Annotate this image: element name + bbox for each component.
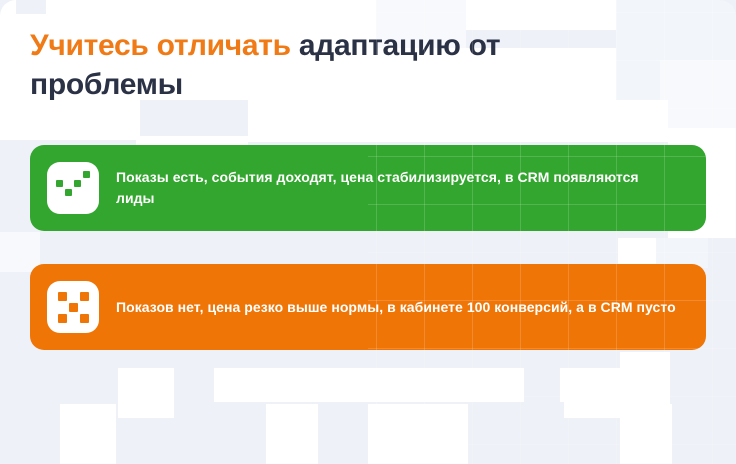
pixel-cell (83, 189, 90, 196)
pixel-cell (65, 198, 72, 205)
pixel-cell (58, 303, 67, 312)
card-negative: Показов нет, цена резко выше нормы, в ка… (30, 264, 706, 350)
bg-block (564, 368, 620, 418)
pixel-cell (69, 314, 78, 323)
pixel-cell (74, 189, 81, 196)
pixel-cell (58, 292, 67, 301)
pixel-cell (83, 198, 90, 205)
bg-block (248, 100, 668, 142)
bg-block (266, 404, 318, 464)
bg-block (0, 100, 140, 140)
pixel-cell (56, 189, 63, 196)
card-negative-icon-tile (47, 281, 99, 333)
pixel-cell (74, 198, 81, 205)
pixel-cell (80, 292, 89, 301)
pixel-cell (58, 314, 67, 323)
page-title: Учитесь отличать адаптацию от проблемы (30, 26, 640, 104)
pixel-check-icon (56, 171, 90, 205)
bg-block (660, 60, 736, 130)
bg-block (60, 404, 116, 464)
pixel-cross-icon (58, 292, 89, 323)
card-positive-icon-tile (47, 162, 99, 214)
pixel-cell (65, 189, 72, 196)
pixel-cell (56, 171, 63, 178)
pixel-cell (69, 292, 78, 301)
bg-block (368, 404, 468, 464)
bg-block (620, 404, 672, 464)
pixel-cell (65, 171, 72, 178)
pixel-cell (65, 180, 72, 187)
pixel-cell (56, 198, 63, 205)
pixel-cell (74, 180, 81, 187)
card-positive-text: Показы есть, события доходят, цена стаби… (116, 167, 676, 209)
bg-block (0, 0, 16, 14)
card-positive: Показы есть, события доходят, цена стаби… (30, 145, 706, 231)
pixel-cell (56, 180, 63, 187)
card-negative-text: Показов нет, цена резко выше нормы, в ка… (116, 297, 676, 318)
pixel-cell (69, 303, 78, 312)
pixel-cell (80, 303, 89, 312)
pixel-cell (83, 171, 90, 178)
pixel-cell (83, 180, 90, 187)
page-title-accent: Учитесь отличать (30, 29, 291, 62)
pixel-cell (74, 171, 81, 178)
bg-block (0, 232, 40, 272)
bg-block (214, 368, 524, 402)
bg-block (620, 352, 670, 408)
bg-block (214, 368, 266, 402)
bg-block (560, 368, 622, 402)
bg-block (118, 368, 174, 418)
infographic-canvas: Учитесь отличать адаптацию от проблемы (0, 0, 736, 464)
pixel-cell (80, 314, 89, 323)
